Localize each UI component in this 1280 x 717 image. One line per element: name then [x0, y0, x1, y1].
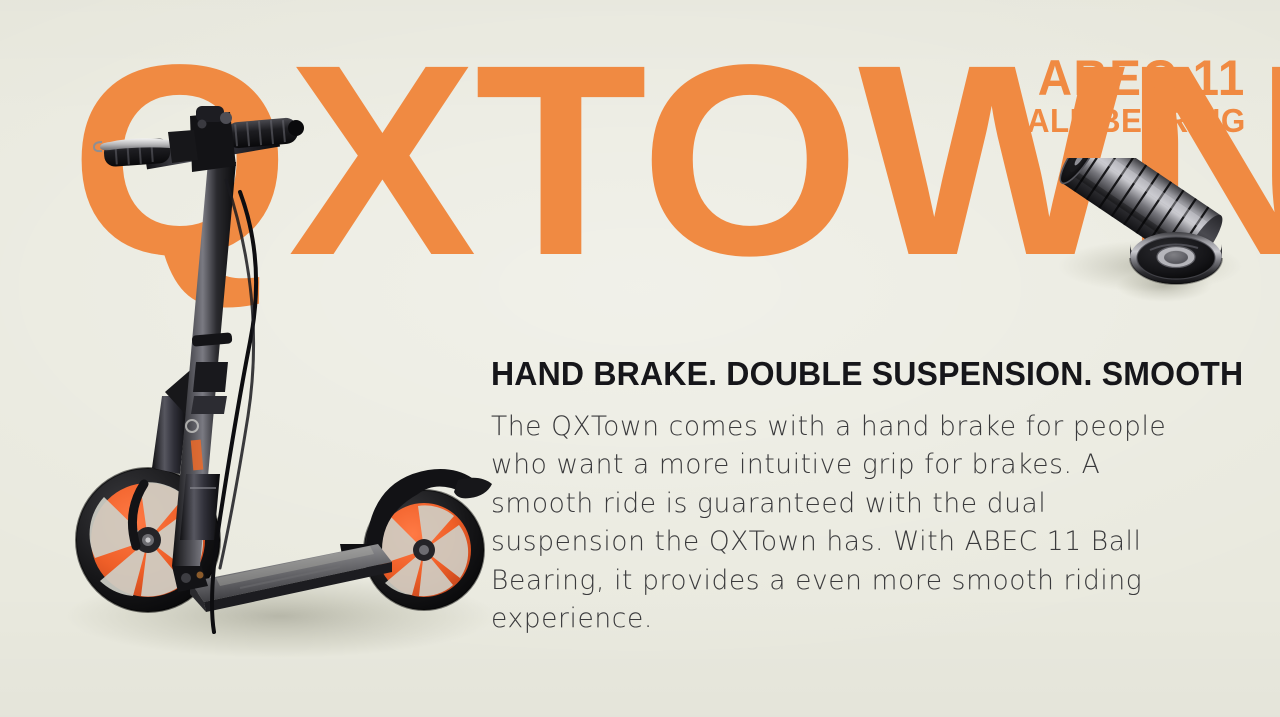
description-text: The QXTown comes with a hand brake for p…	[491, 408, 1171, 639]
description-paragraph: The QXTown comes with a hand brake for p…	[491, 408, 1171, 639]
handlebar	[94, 106, 304, 172]
copy-block: HAND BRAKE. DOUBLE SUSPENSION. SMOOTH Th…	[491, 356, 1191, 639]
feature-headline: HAND BRAKE. DOUBLE SUSPENSION. SMOOTH	[491, 356, 1170, 392]
scooter-illustration	[40, 96, 520, 676]
scooter-product-image	[40, 96, 520, 676]
abec-rating-label: ABEC 11	[1004, 54, 1246, 102]
abec-badge: ABEC 11 BALL BEARING	[991, 54, 1246, 139]
ball-bearing-image	[1042, 158, 1274, 323]
ball-bearing-illustration	[1042, 158, 1274, 323]
scooter-stem	[172, 162, 236, 566]
ball-bearing-label: BALL BEARING	[1004, 104, 1246, 139]
advertisement-banner: QXTOWN	[0, 0, 1280, 717]
single-bearing	[1130, 232, 1222, 284]
